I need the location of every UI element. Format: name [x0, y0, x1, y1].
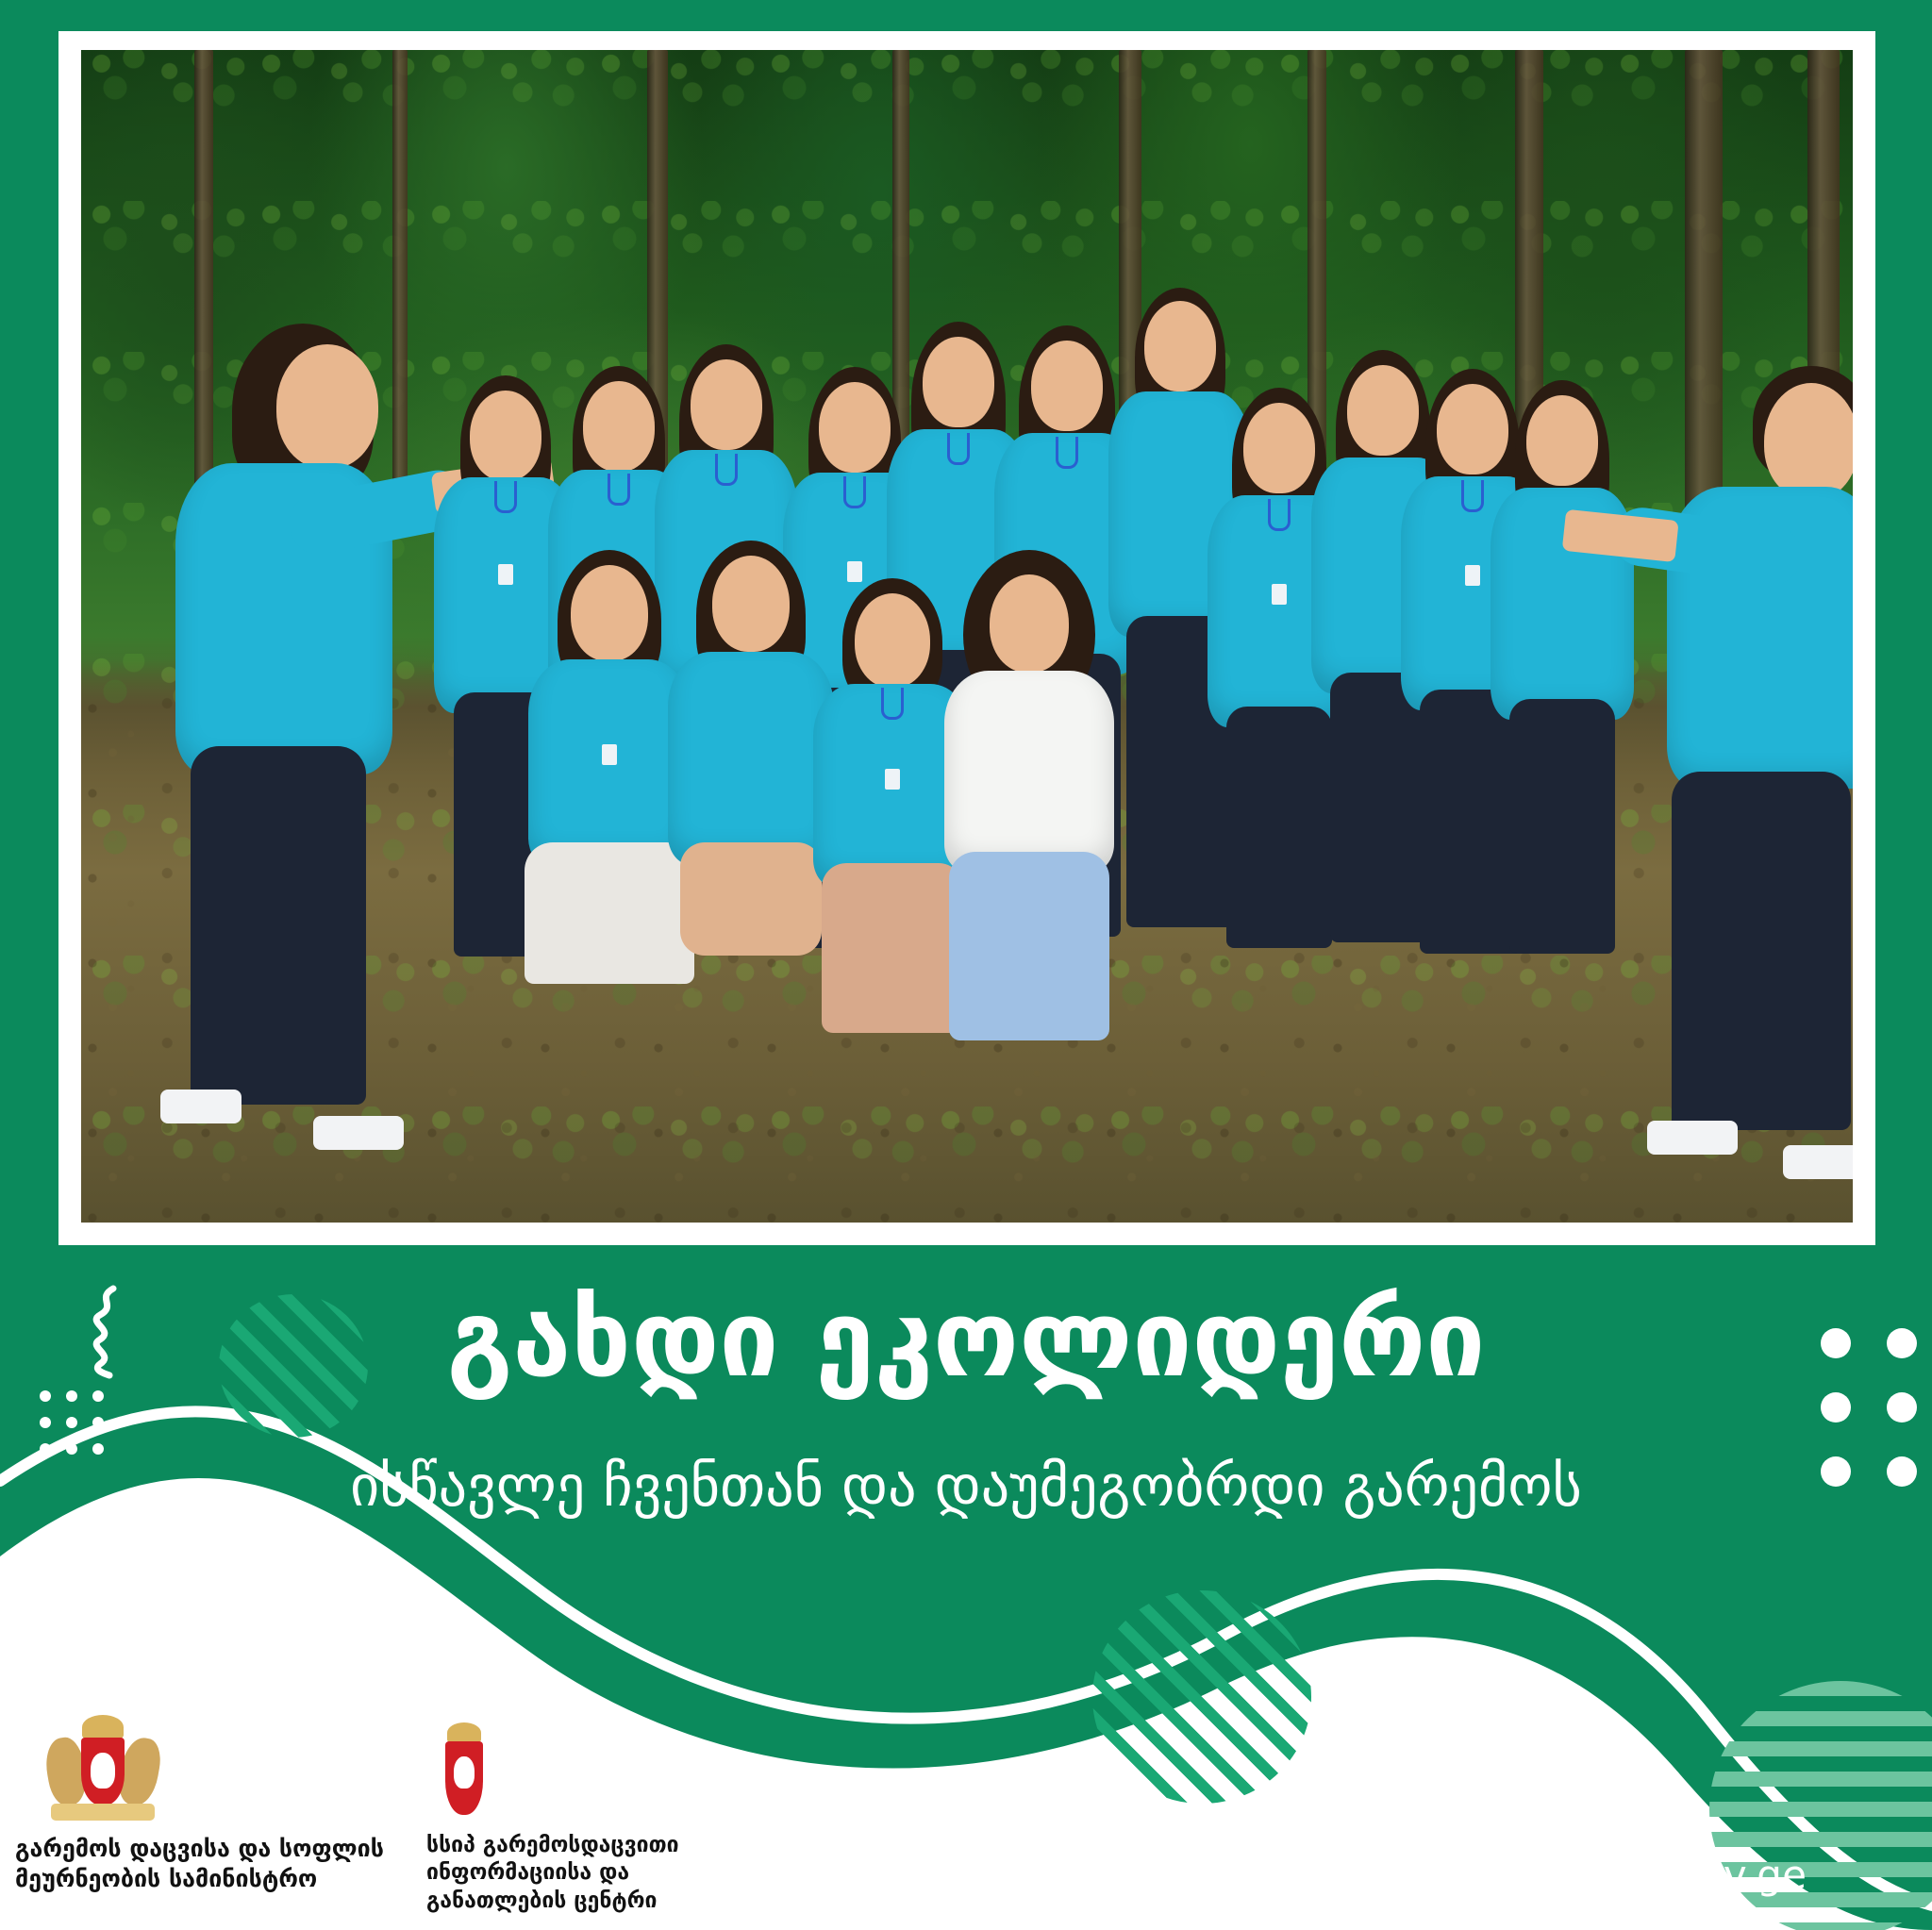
person-figure [1581, 366, 1853, 1130]
logo-ministry: გარემოს დაცვისა და სოფლის მეურნეობის სამ… [15, 1713, 138, 1824]
contact-info[interactable]: www.eiec.gov.ge | info@eiec.gov.ge [1090, 1852, 1807, 1898]
person-figure [930, 550, 1128, 946]
footer-logos: გარემოს დაცვისა და სოფლის მეურნეობის სამ… [0, 1713, 1038, 1930]
photo-frame [58, 31, 1875, 1245]
poster-root: გახდი ეკოლიდერი ისწავლე ჩვენთან და დაუმე… [0, 0, 1932, 1930]
page-title: გახდი ეკოლიდერი [0, 1285, 1932, 1396]
dot-grid-3x3 [40, 1390, 104, 1455]
logo-eiec: სსიპ გარემოსდაცვითი ინფორმაციისა და განა… [426, 1721, 502, 1826]
georgia-coat-of-arms-icon [42, 1713, 164, 1824]
person-figure [147, 324, 458, 1135]
georgia-shield-icon [426, 1721, 502, 1826]
logo-ministry-caption: გარემოს დაცვისა და სოფლის მეურნეობის სამ… [15, 1834, 430, 1894]
striped-circle-diagonal-mid [1092, 1590, 1311, 1804]
group-photo [81, 50, 1853, 1223]
page-subtitle: ისწავლე ჩვენთან და დაუმეგობრდი გარემოს [0, 1453, 1932, 1521]
logo-eiec-caption: სსიპ გარემოსდაცვითი ინფორმაციისა და განა… [426, 1832, 785, 1915]
